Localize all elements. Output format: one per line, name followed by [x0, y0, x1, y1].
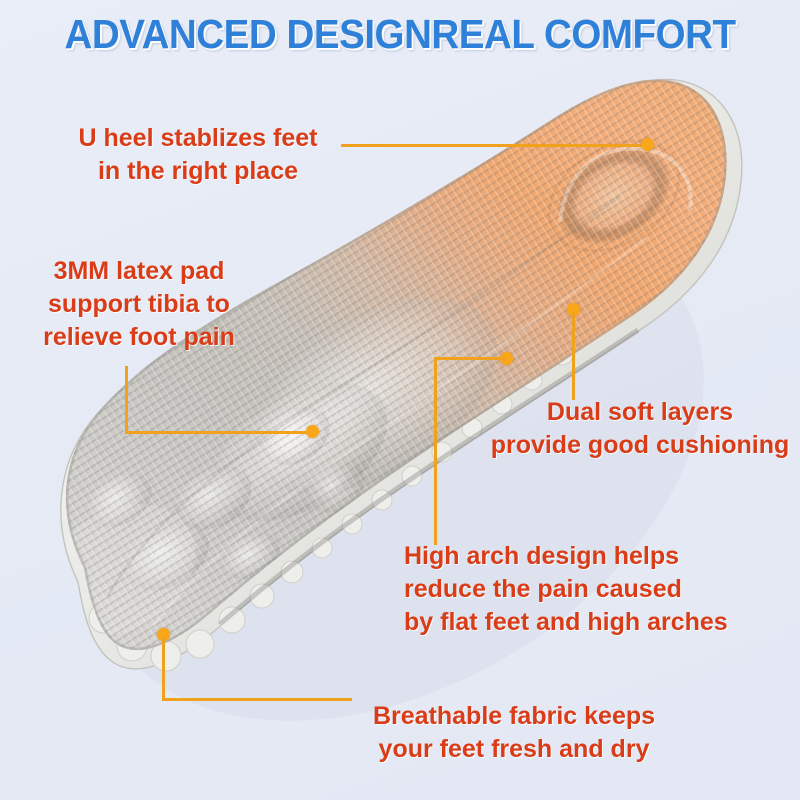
- callout-high-arch-line-1: High arch design helps: [404, 540, 800, 573]
- leader-dot-latex-pad: [306, 425, 319, 438]
- callout-latex-pad-line-3: relieve foot pain: [14, 321, 264, 354]
- leader-line-breathable-horizontal: [162, 698, 352, 701]
- callout-u-heel-line-1: U heel stablizes feet: [48, 122, 348, 155]
- leader-line-latex-pad-horizontal: [125, 431, 313, 434]
- callout-dual-soft-layers: Dual soft layers provide good cushioning: [486, 396, 794, 462]
- callout-breathable-fabric-line-2: your feet fresh and dry: [344, 733, 684, 766]
- infographic-canvas: ADVANCED DESIGNREAL COMFORT: [0, 0, 800, 800]
- callout-breathable-fabric-line-1: Breathable fabric keeps: [344, 700, 684, 733]
- callout-latex-pad-line-1: 3MM latex pad: [14, 255, 264, 288]
- callout-dual-soft-layers-line-2: provide good cushioning: [486, 429, 794, 462]
- callout-dual-soft-layers-line-1: Dual soft layers: [486, 396, 794, 429]
- leader-line-latex-pad-vertical: [125, 366, 128, 434]
- leader-line-breathable-vertical: [162, 636, 165, 700]
- callout-u-heel-line-2: in the right place: [48, 155, 348, 188]
- callout-high-arch: High arch design helps reduce the pain c…: [404, 540, 800, 639]
- leader-line-dual-soft-layers: [572, 312, 575, 400]
- leader-line-u-heel: [341, 144, 649, 147]
- leader-line-high-arch-vertical: [434, 357, 437, 545]
- callout-latex-pad: 3MM latex pad support tibia to relieve f…: [14, 255, 264, 354]
- callout-latex-pad-line-2: support tibia to: [14, 288, 264, 321]
- leader-dot-u-heel: [641, 138, 654, 151]
- callout-high-arch-line-2: reduce the pain caused: [404, 573, 800, 606]
- callout-u-heel: U heel stablizes feet in the right place: [48, 122, 348, 188]
- callout-breathable-fabric: Breathable fabric keeps your feet fresh …: [344, 700, 684, 766]
- callout-high-arch-line-3: by flat feet and high arches: [404, 606, 800, 639]
- leader-line-high-arch-horizontal: [434, 357, 506, 360]
